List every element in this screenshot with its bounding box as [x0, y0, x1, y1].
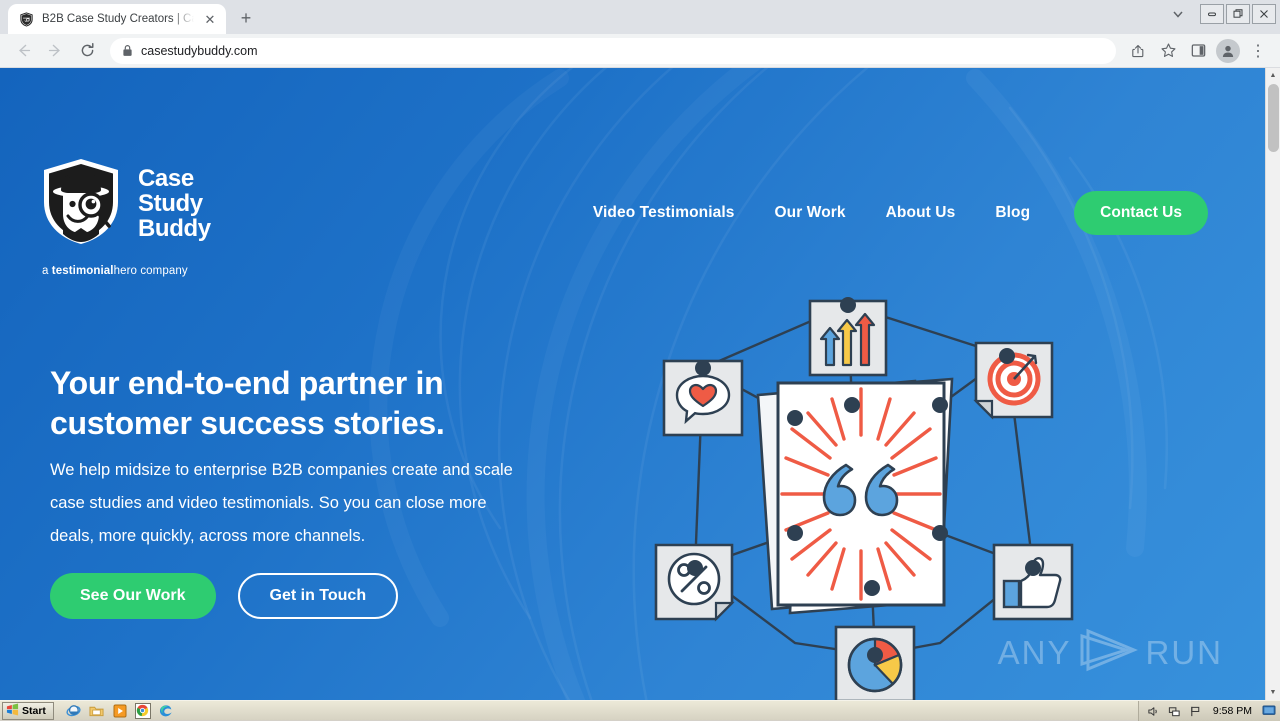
nav-our-work[interactable]: Our Work	[775, 204, 846, 222]
quick-launch-bar	[66, 703, 174, 719]
nav-blog[interactable]: Blog	[995, 204, 1030, 222]
tab-title: B2B Case Study Creators | Case Stu	[42, 13, 194, 25]
folder-icon[interactable]	[89, 703, 105, 719]
share-icon[interactable]	[1124, 37, 1152, 65]
card-thumbs-up	[994, 545, 1072, 619]
scroll-up-icon[interactable]: ▲	[1266, 68, 1280, 83]
volume-icon[interactable]	[1147, 704, 1161, 718]
nav-video-testimonials[interactable]: Video Testimonials	[593, 204, 735, 222]
detective-logo-mark	[38, 156, 124, 253]
logo-tagline: a testimonialhero company	[42, 265, 211, 277]
profile-avatar-icon[interactable]	[1216, 39, 1240, 63]
start-label: Start	[22, 705, 46, 717]
chrome-icon[interactable]	[135, 703, 151, 719]
ie-icon[interactable]	[66, 703, 82, 719]
window-controls	[1198, 3, 1276, 25]
lock-icon	[122, 44, 133, 57]
browser-toolbar: casestudybuddy.com ⋮	[0, 34, 1280, 68]
detective-favicon	[18, 11, 34, 27]
start-button[interactable]: Start	[2, 702, 54, 720]
logo-line-2: Study	[138, 190, 203, 217]
heading-line-1: Your end-to-end partner in	[50, 365, 443, 401]
hero-copy: Your end-to-end partner in customer succ…	[50, 363, 530, 619]
maximize-button[interactable]	[1226, 4, 1250, 24]
hero-cta-group: See Our Work Get in Touch	[50, 573, 530, 619]
side-panel-icon[interactable]	[1184, 37, 1212, 65]
windows-taskbar: Start	[0, 700, 1280, 720]
website-hero-section: Case Study Buddy a testimonialhero compa…	[0, 68, 1265, 700]
heading-line-2: customer success stories.	[50, 405, 445, 441]
page-title: Your end-to-end partner in customer succ…	[50, 363, 530, 444]
tab-close-icon[interactable]: ✕	[202, 11, 218, 27]
hero-illustration	[640, 283, 1090, 700]
page-scrollbar[interactable]: ▲ ▼	[1265, 68, 1280, 700]
scrollbar-thumb[interactable]	[1268, 84, 1279, 152]
see-our-work-button[interactable]: See Our Work	[50, 573, 216, 619]
url-text: casestudybuddy.com	[141, 44, 258, 58]
nav-about-us[interactable]: About Us	[886, 204, 956, 222]
network-icon[interactable]	[1168, 704, 1182, 718]
tagline-suffix: hero company	[114, 265, 188, 277]
star-icon[interactable]	[1154, 37, 1182, 65]
tab-strip: B2B Case Study Creators | Case Stu ✕ +	[0, 0, 1280, 34]
logo-wordmark: Case Study Buddy	[138, 167, 211, 241]
tabstrip-right-controls	[1158, 0, 1280, 28]
logo-line-1: Case	[138, 165, 194, 192]
site-navigation: Video Testimonials Our Work About Us Blo…	[593, 191, 1208, 235]
minimize-button[interactable]	[1200, 4, 1224, 24]
hero-paragraph: We help midsize to enterprise B2B compan…	[50, 454, 530, 553]
page-viewport: Case Study Buddy a testimonialhero compa…	[0, 68, 1280, 700]
tagline-bold: testimonial	[52, 265, 114, 277]
scroll-down-icon[interactable]: ▼	[1266, 685, 1280, 700]
site-logo[interactable]: Case Study Buddy a testimonialhero compa…	[38, 156, 211, 277]
flag-icon[interactable]	[1189, 704, 1203, 718]
reload-icon[interactable]	[72, 37, 102, 65]
monitor-icon[interactable]	[1262, 704, 1276, 718]
card-percent	[656, 545, 732, 619]
edge-icon[interactable]	[158, 703, 174, 719]
address-bar[interactable]: casestudybuddy.com	[110, 38, 1116, 64]
taskbar-clock[interactable]: 9:58 PM	[1210, 705, 1255, 717]
logo-line-3: Buddy	[138, 215, 211, 242]
forward-icon[interactable]	[40, 37, 70, 65]
get-in-touch-button[interactable]: Get in Touch	[238, 573, 399, 619]
media-player-icon[interactable]	[112, 703, 128, 719]
browser-tab[interactable]: B2B Case Study Creators | Case Stu ✕	[8, 4, 226, 34]
browser-menu-icon[interactable]: ⋮	[1244, 37, 1272, 65]
back-icon[interactable]	[8, 37, 38, 65]
windows-flag-icon	[6, 703, 19, 719]
new-tab-button[interactable]: +	[232, 4, 260, 32]
card-pie-chart	[836, 627, 914, 700]
watermark-word-2: RUN	[1146, 636, 1224, 669]
tagline-prefix: a	[42, 265, 52, 277]
chevron-down-icon[interactable]	[1158, 0, 1198, 28]
site-header: Case Study Buddy a testimonialhero compa…	[0, 68, 1250, 288]
close-button[interactable]	[1252, 4, 1276, 24]
system-tray: 9:58 PM	[1138, 701, 1280, 721]
contact-us-button[interactable]: Contact Us	[1074, 191, 1208, 235]
browser-window: B2B Case Study Creators | Case Stu ✕ +	[0, 0, 1280, 700]
